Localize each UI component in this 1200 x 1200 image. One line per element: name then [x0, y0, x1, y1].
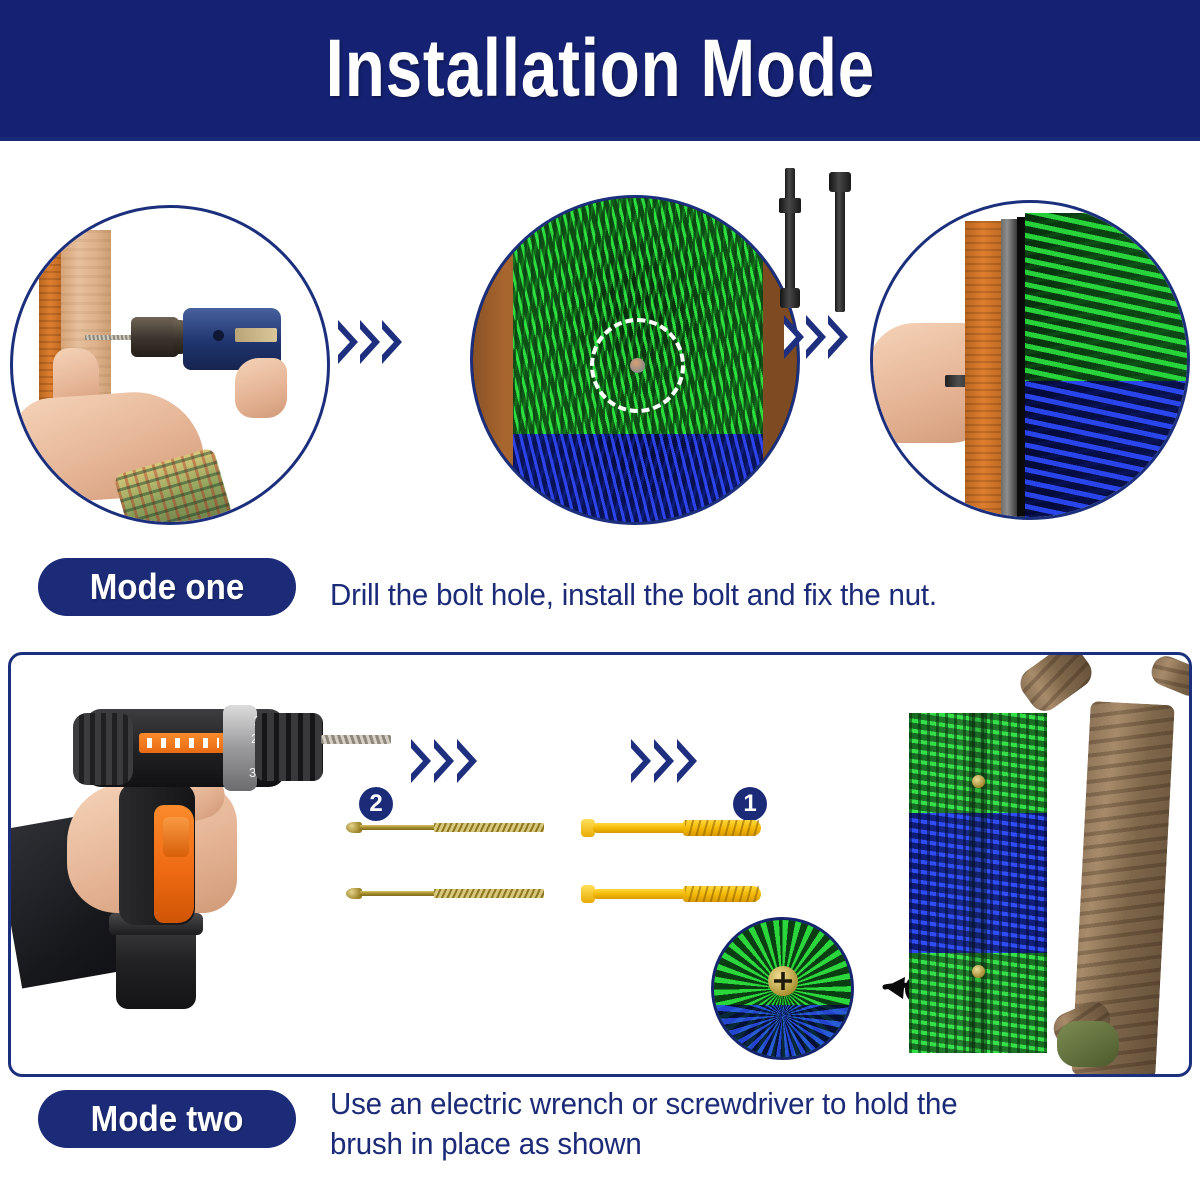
chevron-right-icon [677, 739, 697, 783]
drill-trigger [163, 817, 189, 857]
anchor-ribs [685, 820, 759, 836]
mode-one-arrow-group-2 [784, 315, 848, 359]
blue-bristles [513, 434, 763, 522]
mode-two-badge-label: Mode two [91, 1101, 244, 1137]
green-bristles-side [1025, 213, 1187, 385]
wall-anchor-item [581, 885, 761, 903]
infographic-page: Installation Mode [0, 0, 1200, 1200]
header-divider [0, 137, 1200, 141]
chevron-right-icon [411, 739, 431, 783]
bolt-nut [779, 198, 801, 213]
mode-two-panel: 3 2 1 2 [8, 652, 1192, 1077]
screw-thread [434, 889, 544, 898]
anchor-ribs [685, 886, 759, 902]
brush-center-spine [969, 713, 987, 1053]
mode-two-caption-line-1: Use an electric wrench or screwdriver to… [330, 1084, 1128, 1124]
page-title: Installation Mode [325, 28, 874, 110]
chevron-right-icon [382, 320, 402, 364]
chevron-right-icon [806, 315, 826, 359]
anchor-body [593, 889, 687, 899]
hardware-badge-2: 2 [359, 787, 393, 821]
chevron-right-icon [631, 739, 651, 783]
bolt-head [780, 288, 800, 308]
highlight-dashed-ring [590, 318, 685, 413]
chevron-right-icon [434, 739, 454, 783]
mode-two-arrow-group-2 [631, 739, 697, 783]
mounting-screw [972, 775, 985, 788]
hardware-badge-1-label: 1 [743, 792, 756, 816]
hardware-badge-1: 1 [733, 787, 767, 821]
drill-button [213, 330, 224, 341]
drill-motor-housing [73, 713, 133, 785]
drill-chuck [131, 317, 179, 357]
brush-backing-board [1001, 219, 1017, 517]
chevron-right-icon [338, 320, 358, 364]
chevron-right-icon [457, 739, 477, 783]
drill-bit [321, 735, 391, 744]
mode-one-arrow-group-1 [338, 320, 402, 364]
drill-battery [116, 923, 196, 1009]
drill-chuck [255, 713, 323, 781]
blue-bristles-side [1025, 381, 1187, 517]
tree-branch-upper [1014, 652, 1098, 717]
mode-one-badge-label: Mode one [90, 569, 245, 605]
chevron-right-icon [828, 315, 848, 359]
bolt-item [828, 172, 852, 312]
mounted-brush [909, 713, 1047, 1053]
hand-gripping-drill [235, 358, 287, 418]
wood-screw-item [346, 887, 546, 899]
drill-led-dots [147, 738, 219, 748]
mode-two-badge: Mode two [38, 1090, 296, 1148]
bolt-shaft [785, 168, 795, 308]
bolt-item [778, 168, 802, 308]
mode-two-caption-line-2: brush in place as shown [330, 1124, 1128, 1164]
tree-branch-right [1147, 652, 1192, 700]
tree-moss [1057, 1021, 1119, 1067]
chevron-right-icon [360, 320, 380, 364]
mode-one-caption: Drill the bolt hole, install the bolt an… [330, 575, 1119, 615]
screw-head-detail-inset [711, 917, 854, 1060]
chevron-right-icon [654, 739, 674, 783]
wall-anchor-item [581, 819, 761, 837]
anchor-body [593, 823, 687, 833]
bolt-shaft [835, 180, 845, 312]
mode-two-arrow-group-1 [411, 739, 477, 783]
screw-thread [434, 823, 544, 832]
drill-bit [85, 335, 133, 340]
mounting-screw [972, 965, 985, 978]
mode-one-step2-photo [470, 195, 800, 525]
bolt-head [829, 172, 851, 192]
screw-shank [360, 825, 436, 830]
mode-one-step1-photo [10, 205, 330, 525]
mode-one-badge: Mode one [38, 558, 296, 616]
drill-label-plate [235, 328, 277, 342]
chevron-right-icon [784, 315, 804, 359]
page-header: Installation Mode [0, 0, 1200, 137]
mode-one-step3-photo [870, 200, 1190, 520]
wood-screw-item [346, 821, 546, 833]
screw-shank [360, 891, 436, 896]
hardware-badge-2-label: 2 [369, 792, 382, 816]
wood-post [965, 221, 1001, 517]
